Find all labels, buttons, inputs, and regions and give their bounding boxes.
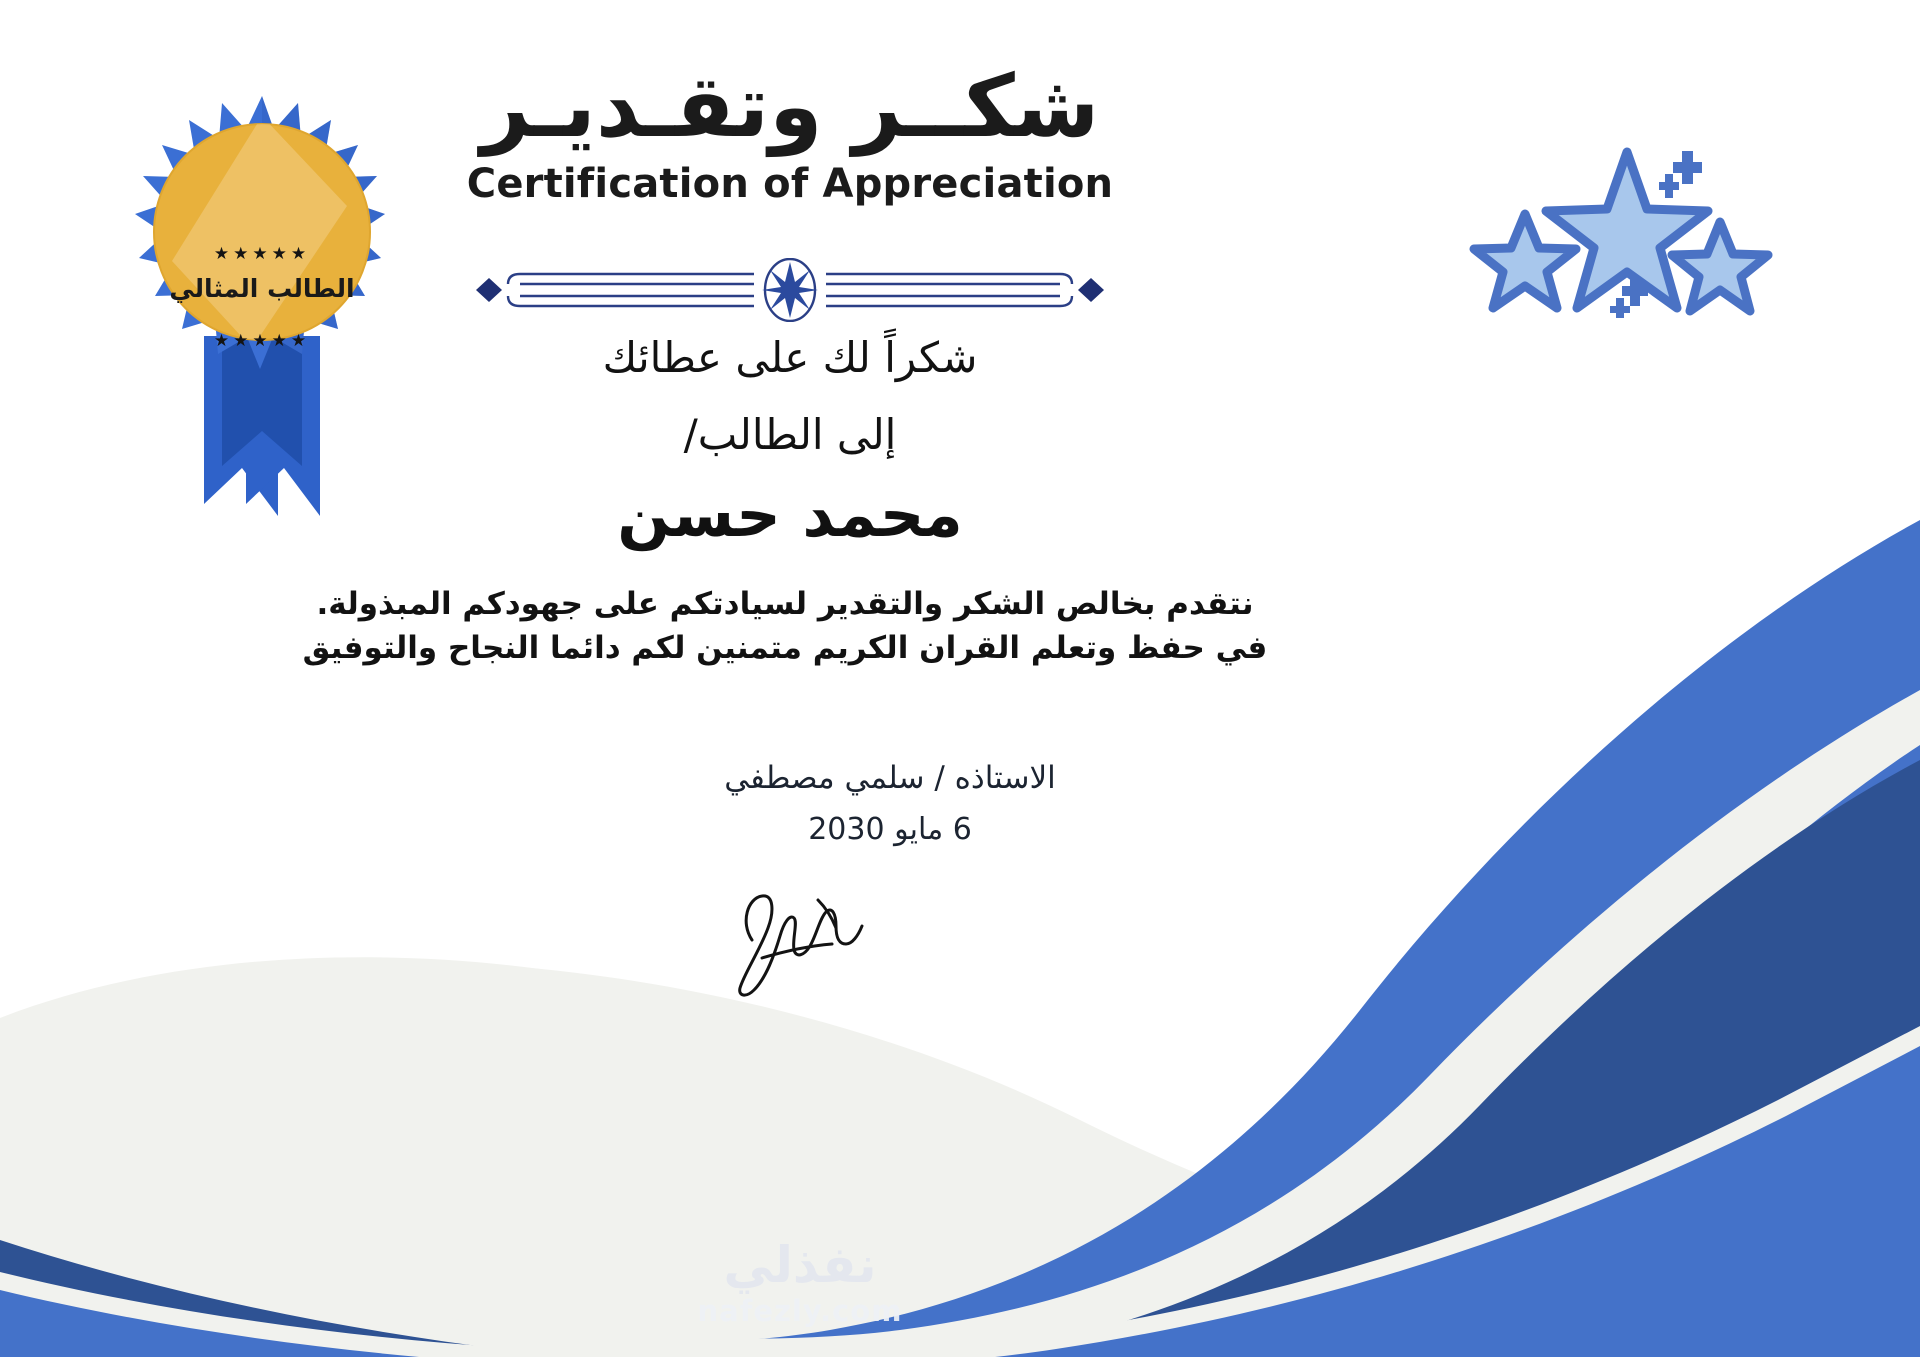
sparkle-plus-lower-b (1610, 298, 1630, 318)
to-student-label: إلى الطالب/ (390, 410, 1190, 459)
star-left (1474, 214, 1576, 308)
brand-name-arabic: نفذلي (600, 1240, 1000, 1290)
rule-right-bottom (826, 296, 1072, 306)
paragraph-line-2: في حفظ وتعلم القران الكريم متمنين لكم دا… (280, 626, 1290, 670)
page-title-arabic: شكــر وتقـديـر (420, 58, 1160, 157)
brand-watermark: نفذلي nafezly.com (600, 1240, 1000, 1328)
appreciation-paragraph: نتقدم بخالص الشكر والتقدير لسيادتكم على … (280, 582, 1290, 670)
certificate-date: 6 مايو 2030 (490, 812, 1290, 847)
star-right (1672, 222, 1768, 311)
divider-ornament (462, 258, 1118, 322)
diamond-icon-left (476, 278, 502, 302)
handwritten-signature-icon (700, 870, 900, 1000)
certificate-page: ★★★★★ الطالب المثالي ★★★★★ (0, 0, 1920, 1357)
rule-left-bottom (508, 296, 754, 306)
brand-name-latin: nafezly.com (600, 1294, 1000, 1328)
stars-decoration (1455, 118, 1775, 318)
heading-block: شكــر وتقـديـر Certification of Apprecia… (420, 58, 1160, 207)
rosette-label: الطالب المثالي (112, 274, 412, 303)
rule-right-top (826, 274, 1072, 284)
teacher-name-line: الاستاذه / سلمي مصطفي (490, 760, 1290, 796)
page-title-english: Certification of Appreciation (420, 161, 1160, 207)
award-rosette: ★★★★★ الطالب المثالي ★★★★★ (112, 86, 412, 546)
diamond-icon-right (1078, 278, 1104, 302)
sparkle-plus-small (1659, 174, 1679, 198)
thanks-line: شكراً لك على عطائك (390, 333, 1190, 382)
starburst-icon (762, 262, 818, 318)
sparkle-plus-large (1673, 151, 1702, 184)
rosette-stars-bottom: ★★★★★ (112, 331, 412, 351)
rosette-stars-top: ★★★★★ (112, 244, 412, 264)
paragraph-line-1: نتقدم بخالص الشكر والتقدير لسيادتكم على … (280, 582, 1290, 626)
rule-left-top (508, 274, 754, 284)
student-name: محمد حسن (390, 478, 1190, 551)
